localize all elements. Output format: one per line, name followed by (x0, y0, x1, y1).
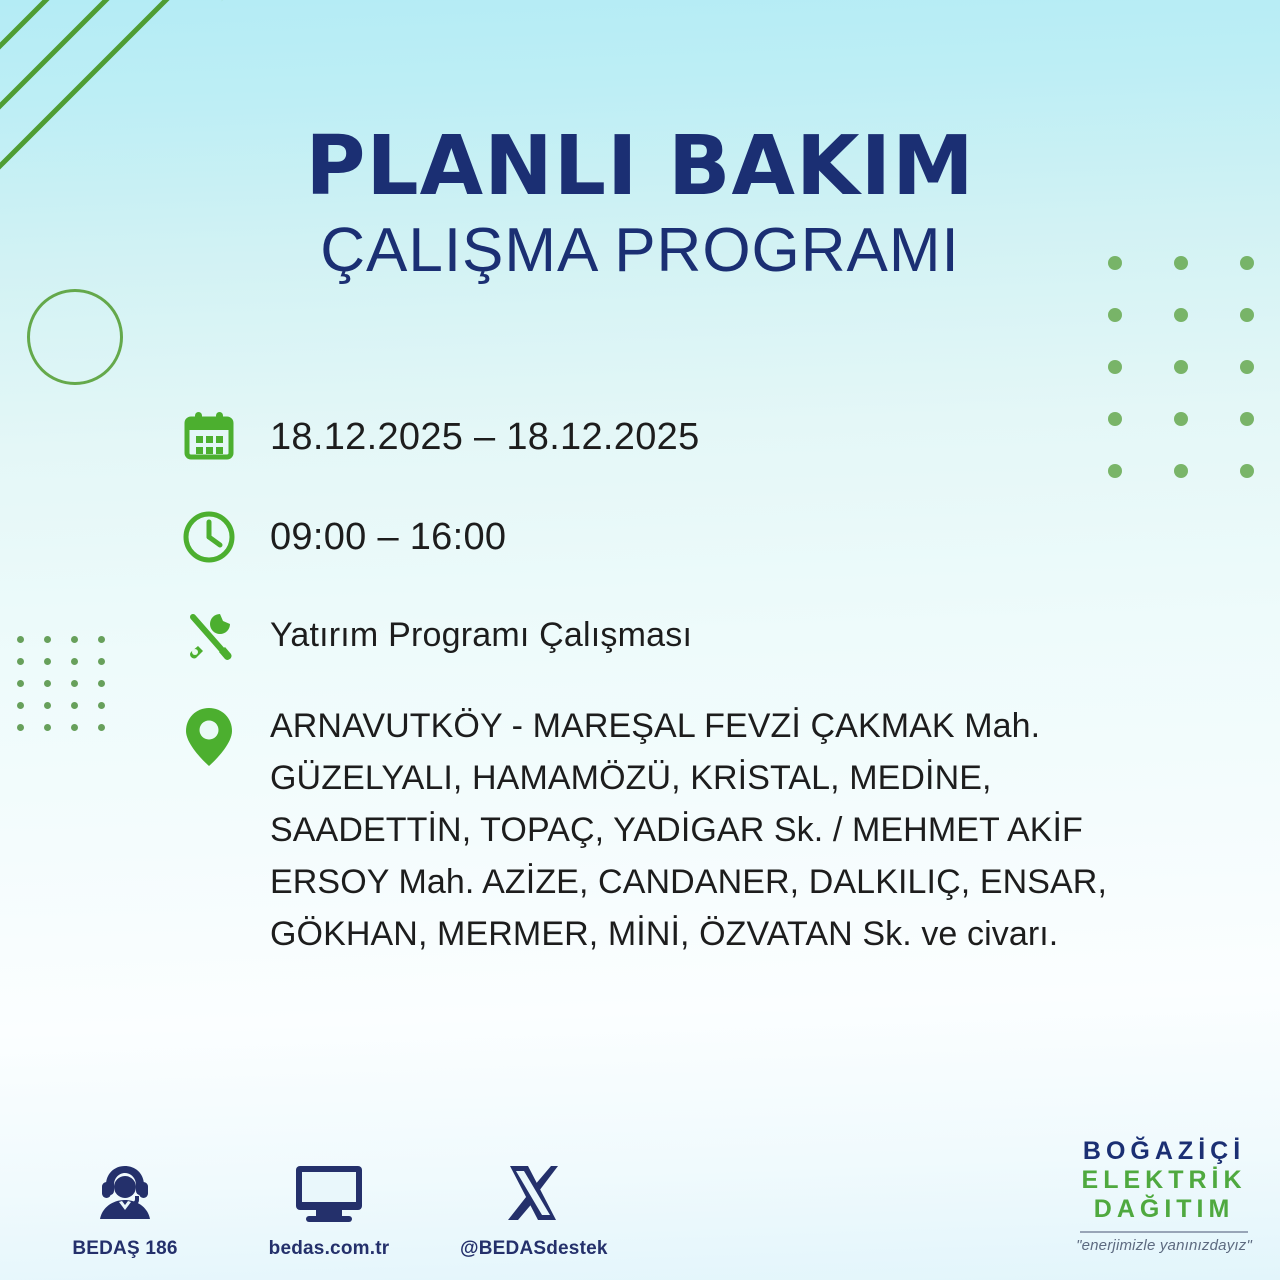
outage-work-type: Yatırım Programı Çalışması (242, 602, 692, 668)
outage-time-range: 09:00 – 16:00 (242, 504, 506, 570)
logo-line-bogazici: BOĞAZİÇİ (1076, 1137, 1252, 1166)
footer-contact-bar: BEDAŞ 186 bedas.com.tr (52, 1154, 606, 1260)
poster-canvas: PLANLI BAKIM ÇALIŞMA PROGRAMI 18 (0, 0, 1280, 1280)
outage-info-block: 18.12.2025 – 18.12.2025 09:00 – 16:00 (176, 404, 1216, 960)
contact-website[interactable]: bedas.com.tr (256, 1154, 402, 1260)
circle-outline-decoration (27, 289, 123, 385)
info-row-work-type: Yatırım Programı Çalışması (176, 602, 1216, 700)
dot-grid-left-decoration (17, 636, 125, 746)
outage-location-address: ARNAVUTKÖY - MAREŞAL FEVZİ ÇAKMAK Mah. G… (242, 700, 1107, 960)
info-row-location: ARNAVUTKÖY - MAREŞAL FEVZİ ÇAKMAK Mah. G… (176, 700, 1216, 960)
address-line: ARNAVUTKÖY - MAREŞAL FEVZİ ÇAKMAK Mah. (270, 700, 1107, 752)
address-line: ERSOY Mah. AZİZE, CANDANER, DALKILIÇ, EN… (270, 856, 1107, 908)
tools-icon (176, 602, 242, 668)
logo-tagline: "enerjimizle yanınızdayız" (1076, 1237, 1252, 1254)
logo-line-dagitim: DAĞITIM (1076, 1195, 1252, 1224)
contact-label: @BEDASdestek (460, 1238, 606, 1260)
page-title: PLANLI BAKIM (0, 126, 1280, 208)
page-subtitle: ÇALIŞMA PROGRAMI (0, 218, 1280, 283)
info-row-time: 09:00 – 16:00 (176, 504, 1216, 602)
company-logo: BOĞAZİÇİ ELEKTRİK DAĞITIM "enerjimizle y… (1076, 1137, 1252, 1254)
info-row-date: 18.12.2025 – 18.12.2025 (176, 404, 1216, 504)
map-pin-icon (176, 704, 242, 770)
x-social-icon (460, 1154, 606, 1226)
calendar-icon (176, 404, 242, 470)
support-agent-icon (52, 1154, 198, 1226)
address-line: GÖKHAN, MERMER, MİNİ, ÖZVATAN Sk. ve civ… (270, 908, 1107, 960)
address-line: SAADETTİN, TOPAÇ, YADİGAR Sk. / MEHMET A… (270, 804, 1107, 856)
poster-header: PLANLI BAKIM ÇALIŞMA PROGRAMI (0, 126, 1280, 283)
contact-phone[interactable]: BEDAŞ 186 (52, 1154, 198, 1260)
clock-icon (176, 504, 242, 570)
contact-social-x[interactable]: @BEDASdestek (460, 1154, 606, 1260)
contact-label: BEDAŞ 186 (52, 1238, 198, 1260)
monitor-icon (256, 1154, 402, 1226)
logo-divider (1080, 1231, 1248, 1233)
outage-date-range: 18.12.2025 – 18.12.2025 (242, 404, 700, 470)
logo-line-elektrik: ELEKTRİK (1076, 1166, 1252, 1195)
contact-label: bedas.com.tr (256, 1238, 402, 1260)
address-line: GÜZELYALI, HAMAMÖZÜ, KRİSTAL, MEDİNE, (270, 752, 1107, 804)
